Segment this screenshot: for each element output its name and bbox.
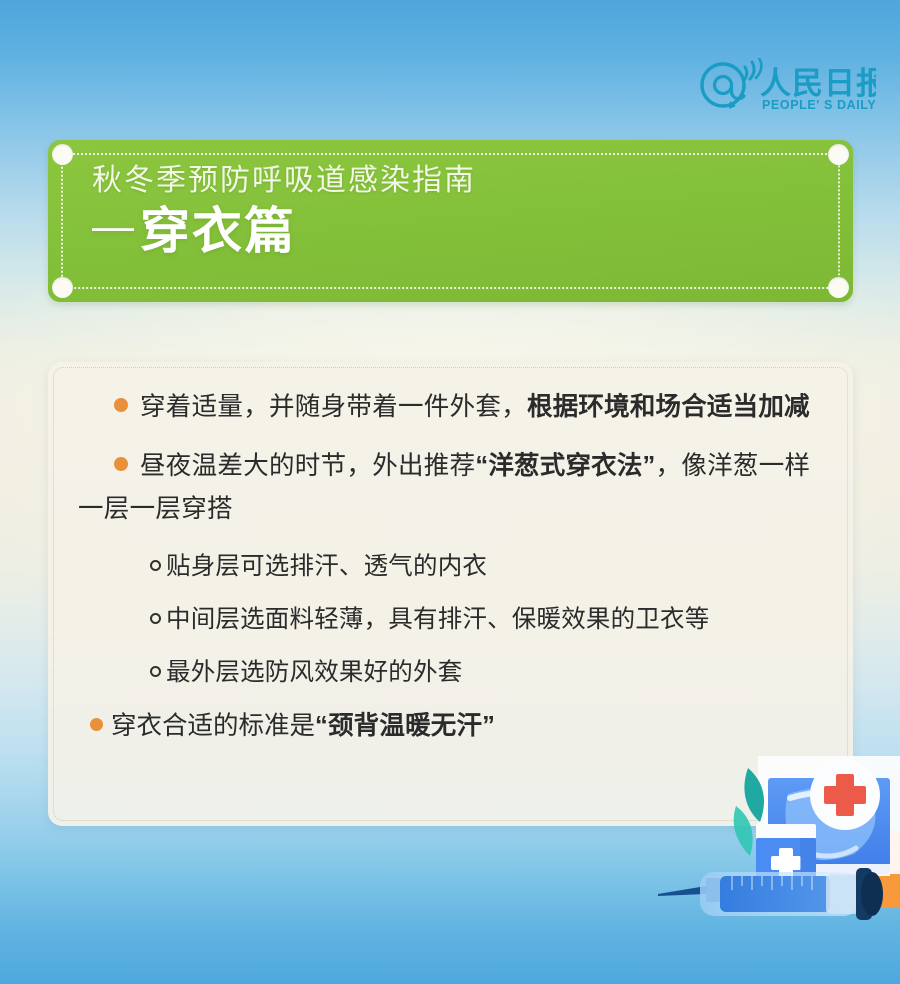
list-item: 最外层选防风效果好的外套 [150,653,827,693]
logo-name-cn: 人民日报 [760,66,876,101]
bullet-1-segment-0: 穿着适量，并随身带着一件外套， [140,393,527,421]
medical-supplies-illustration [640,738,900,938]
banner-text-block: 秋冬季预防呼吸道感染指南 —穿衣篇 [92,162,823,260]
banner-subtitle: 秋冬季预防呼吸道感染指南 [92,162,823,200]
sub-item-2-label: 最外层选防风效果好的外套 [166,659,462,686]
leaf-icon [734,806,753,856]
peoples-daily-logo: 人民日报 PEOPLE' S DAILY [696,58,876,114]
syringe-icon [658,868,883,920]
bullet-2-segment-0: 昼夜温差大的时节，外出推荐 [140,452,475,480]
filled-dot-icon [90,718,103,731]
sub-item-0-label: 贴身层可选排汗、透气的内衣 [166,553,487,580]
sub-item-1-label: 中间层选面料轻薄，具有排汗、保暖效果的卫衣等 [166,606,709,633]
list-item: 贴身层可选排汗、透气的内衣 [150,547,827,587]
banner-title: 穿衣篇 [140,203,296,259]
last-segment-1: “颈背温暖无汗” [315,712,495,740]
sub-list: 贴身层可选排汗、透气的内衣 中间层选面料轻薄，具有排汗、保暖效果的卫衣等 最外层… [78,547,827,693]
hollow-circle-icon [150,560,161,571]
banner-corner-dot-top-left [52,144,73,165]
list-item: 昼夜温差大的时节，外出推荐“洋葱式穿衣法”，像洋葱一样一层一层穿搭 [78,445,827,531]
hollow-circle-icon [150,613,161,624]
filled-dot-icon [114,398,128,412]
banner-corner-dot-bottom-right [828,277,849,298]
bullet-1-segment-1: 根据环境和场合适当加减 [527,393,810,421]
last-segment-0: 穿衣合适的标准是 [111,712,315,740]
banner-title-line: —穿衣篇 [92,202,823,261]
at-microphone-icon: 人民日报 PEOPLE' S DAILY [696,58,876,114]
filled-dot-icon [114,457,128,471]
logo-name-en: PEOPLE' S DAILY [762,98,876,112]
banner-corner-dot-bottom-left [52,277,73,298]
syringe-liquid [720,876,830,912]
hollow-circle-icon [150,666,161,677]
banner-dash: — [92,202,140,249]
title-banner: 秋冬季预防呼吸道感染指南 —穿衣篇 [48,140,853,302]
list-item: 中间层选面料轻薄，具有排汗、保暖效果的卫衣等 [150,600,827,640]
bullet-2-segment-1: “洋葱式穿衣法” [475,452,655,480]
bottle-cap [756,824,816,840]
list-item: 穿着适量，并随身带着一件外套，根据环境和场合适当加减 [78,386,827,429]
banner-corner-dot-top-right [828,144,849,165]
syringe-needle [658,886,706,896]
